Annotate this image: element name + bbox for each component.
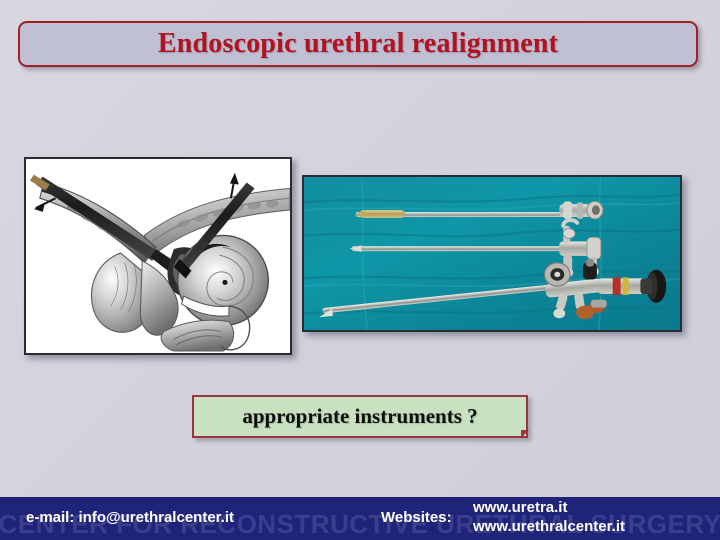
slide-canvas: Endoscopic urethral realignment: [0, 0, 720, 540]
page-title: Endoscopic urethral realignment: [158, 28, 558, 60]
footer-url-uretra[interactable]: www.uretra.it: [473, 498, 625, 517]
instruments-photo-image: [304, 177, 680, 330]
instruments-photo-figure: [302, 175, 682, 332]
slide-title-box: Endoscopic urethral realignment: [18, 21, 698, 67]
anatomy-illustration-image: [26, 159, 290, 353]
caption-text: appropriate instruments ?: [242, 404, 477, 429]
footer-url-urethralcenter[interactable]: www.urethralcenter.it: [473, 517, 625, 536]
caption-box: appropriate instruments ?: [192, 395, 528, 438]
anatomy-illustration-figure: [24, 157, 292, 355]
footer-bar: CENTER FOR RECONSTRUCTIVE URETHRAL SURGE…: [0, 497, 720, 540]
caption-tail-marker: [521, 430, 529, 438]
footer-url-list: www.uretra.it www.urethralcenter.it: [473, 498, 625, 536]
footer-websites-label: Websites:: [381, 509, 452, 526]
footer-email[interactable]: e-mail: info@urethralcenter.it: [26, 509, 234, 526]
